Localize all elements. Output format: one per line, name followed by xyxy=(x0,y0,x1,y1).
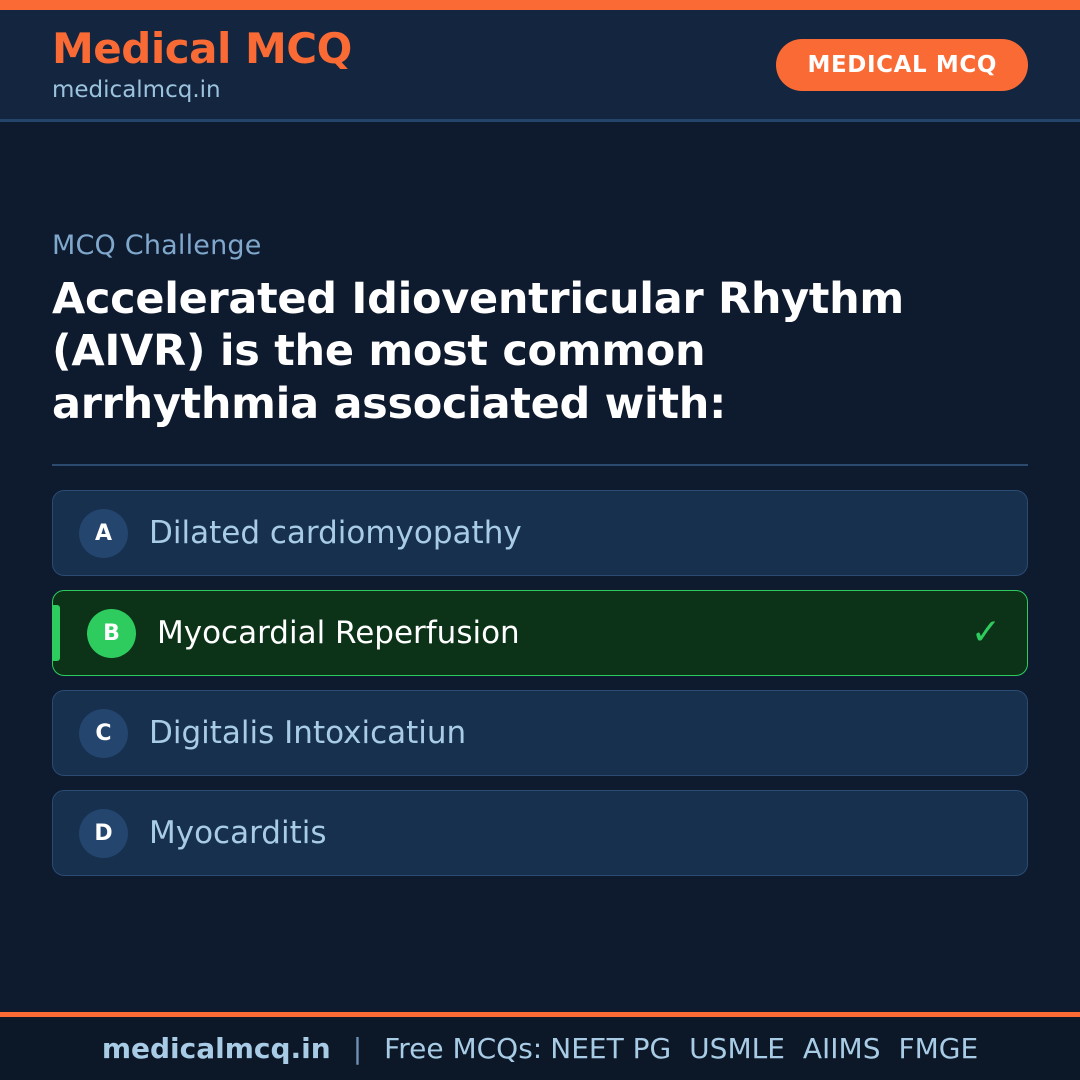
option-label: Digitalis Intoxicatiun xyxy=(149,716,957,750)
footer-exam-neet-pg: NEET PG xyxy=(550,1032,671,1065)
mcq-card: Medical MCQ medicalmcq.in MEDICAL MCQ MC… xyxy=(0,0,1080,1080)
option-label: Dilated cardiomyopathy xyxy=(149,516,957,550)
option-label: Myocarditis xyxy=(149,816,957,850)
option-letter-badge: B xyxy=(87,609,136,658)
question-divider xyxy=(52,464,1028,466)
page-header: Medical MCQ medicalmcq.in MEDICAL MCQ xyxy=(0,10,1080,122)
footer-label: Free MCQs: xyxy=(384,1032,542,1065)
option-a[interactable]: A Dilated cardiomyopathy ✓ xyxy=(52,490,1028,576)
page-footer: medicalmcq.in | Free MCQs: NEET PG USMLE… xyxy=(0,1012,1080,1080)
brand-title: Medical MCQ xyxy=(52,27,352,71)
correct-accent-bar xyxy=(53,605,60,661)
eyebrow-label: MCQ Challenge xyxy=(52,230,1028,261)
footer-exam-usmle: USMLE xyxy=(689,1032,785,1065)
brand-block: Medical MCQ medicalmcq.in xyxy=(52,27,352,102)
footer-separator: | xyxy=(353,1032,362,1065)
footer-text: medicalmcq.in | Free MCQs: NEET PG USMLE… xyxy=(102,1032,978,1065)
brand-subtitle: medicalmcq.in xyxy=(52,78,352,102)
header-badge: MEDICAL MCQ xyxy=(776,39,1028,91)
option-d[interactable]: D Myocarditis ✓ xyxy=(52,790,1028,876)
top-accent-rule xyxy=(0,0,1080,10)
main-content: MCQ Challenge Accelerated Idioventricula… xyxy=(0,122,1080,1012)
option-label: Myocardial Reperfusion xyxy=(157,616,957,650)
footer-exam-aiims: AIIMS xyxy=(803,1032,881,1065)
options-list: A Dilated cardiomyopathy ✓ B Myocardial … xyxy=(52,490,1028,876)
option-letter-badge: D xyxy=(79,809,128,858)
option-letter-badge: A xyxy=(79,509,128,558)
footer-site-link[interactable]: medicalmcq.in xyxy=(102,1032,331,1065)
question-text: Accelerated Idioventricular Rhythm (AIVR… xyxy=(52,273,982,430)
check-icon: ✓ xyxy=(971,615,1001,651)
footer-exam-fmge: FMGE xyxy=(899,1032,979,1065)
option-b[interactable]: B Myocardial Reperfusion ✓ xyxy=(52,590,1028,676)
option-c[interactable]: C Digitalis Intoxicatiun ✓ xyxy=(52,690,1028,776)
option-letter-badge: C xyxy=(79,709,128,758)
